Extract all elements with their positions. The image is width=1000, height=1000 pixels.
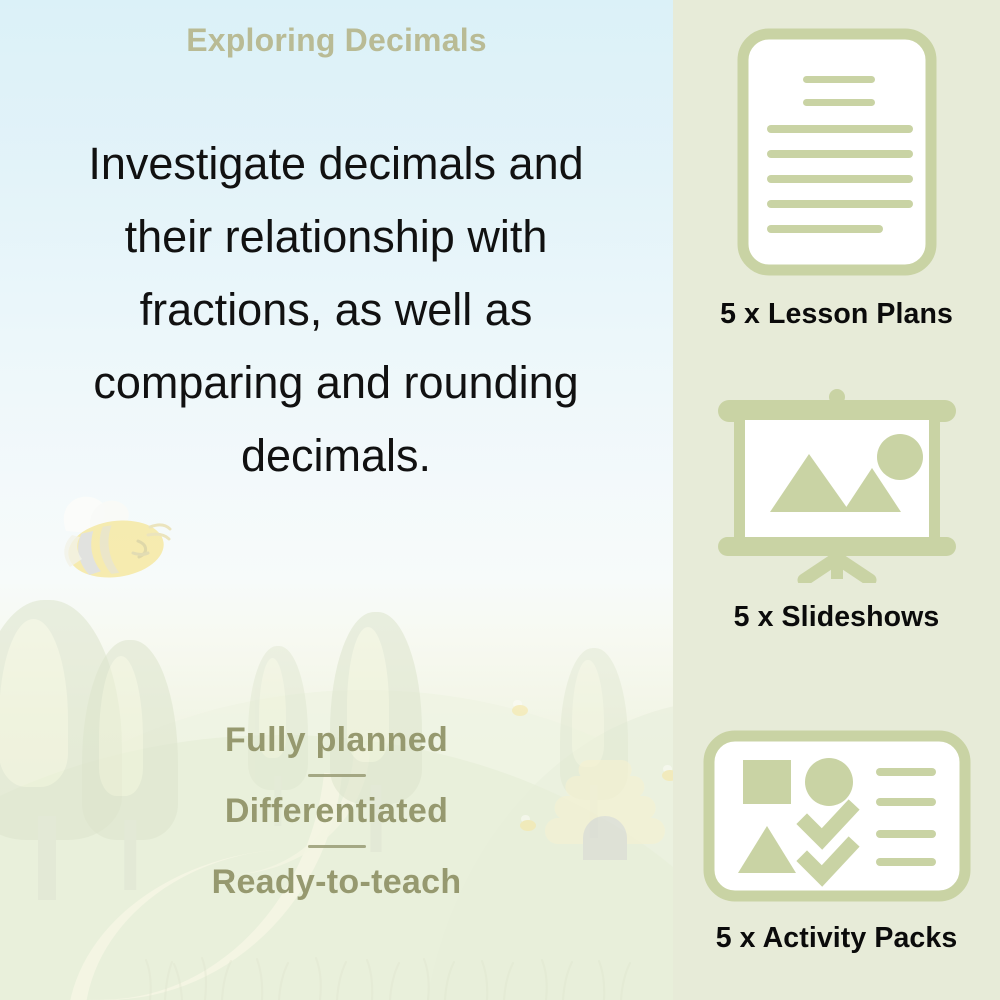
tagline-divider: [308, 774, 366, 777]
small-bee-icon: [512, 705, 528, 716]
tagline-divider: [308, 845, 366, 848]
product-item-activity-packs: 5 x Activity Packs: [673, 730, 1000, 955]
tagline-fully-planned: Fully planned: [0, 720, 673, 760]
product-item-slideshows: 5 x Slideshows: [673, 388, 1000, 634]
tagline-group: Fully planned Differentiated Ready-to-te…: [0, 720, 673, 902]
grass-blades: [0, 940, 673, 1000]
projector-icon: [704, 388, 970, 583]
tagline-differentiated: Differentiated: [0, 791, 673, 831]
product-label-activity-packs: 5 x Activity Packs: [716, 922, 958, 955]
tagline-ready-to-teach: Ready-to-teach: [0, 862, 673, 902]
product-item-lesson-plans: 5 x Lesson Plans: [673, 28, 1000, 331]
bee-illustration: [38, 487, 178, 587]
poster-canvas: Exploring Decimals Investigate decimals …: [0, 0, 1000, 1000]
document-icon: [737, 28, 937, 276]
right-panel: 5 x Lesson Plans: [673, 0, 1000, 1000]
description-text: Investigate decimals and their relations…: [46, 128, 626, 492]
left-panel: Exploring Decimals Investigate decimals …: [0, 0, 673, 1000]
product-label-lesson-plans: 5 x Lesson Plans: [720, 298, 953, 331]
activity-card-icon: [703, 730, 971, 902]
product-label-slideshows: 5 x Slideshows: [734, 601, 940, 634]
page-title: Exploring Decimals: [0, 22, 673, 59]
